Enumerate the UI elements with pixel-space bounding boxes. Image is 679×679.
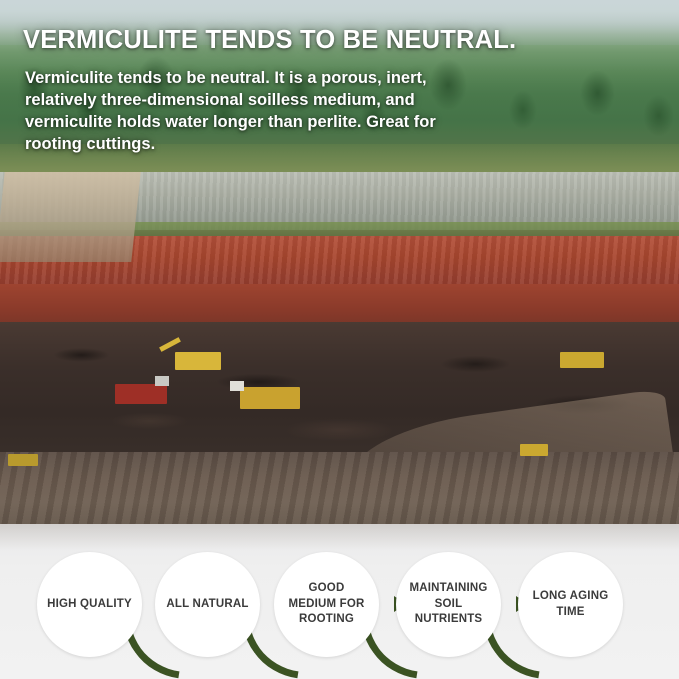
loader-lower-right xyxy=(520,444,548,456)
pit-floor xyxy=(0,452,679,524)
feature-label-2: ALL NATURAL xyxy=(156,597,258,613)
feature-bubbles: HIGH QUALITY ALL NATURAL GOOD MEDIUM FOR… xyxy=(0,524,679,679)
product-infographic: VERMICULITE TENDS TO BE NEUTRAL. Vermicu… xyxy=(0,0,679,679)
feature-bubble-long-aging-time: LONG AGING TIME xyxy=(518,552,623,657)
feature-label-3: GOOD MEDIUM FOR ROOTING xyxy=(274,581,379,628)
haul-truck-yellow-center-cab xyxy=(230,381,244,391)
feature-bubble-good-medium-for-rooting: GOOD MEDIUM FOR ROOTING xyxy=(274,552,379,657)
feature-label-4: MAINTAINING SOIL NUTRIENTS xyxy=(396,581,501,628)
excavator-yellow xyxy=(175,352,221,370)
feature-label-1: HIGH QUALITY xyxy=(37,597,142,613)
feature-bubble-maintaining-soil-nutrients: MAINTAINING SOIL NUTRIENTS xyxy=(396,552,501,657)
dozer-right xyxy=(560,352,604,368)
feature-bubble-all-natural: ALL NATURAL xyxy=(155,552,260,657)
mine-photo-band xyxy=(0,172,679,524)
tan-rock-wedge xyxy=(0,172,141,262)
feature-bubble-high-quality: HIGH QUALITY xyxy=(37,552,142,657)
loader-lower-left xyxy=(8,454,38,466)
body-paragraph: Vermiculite tends to be neutral. It is a… xyxy=(25,68,495,156)
track-marks xyxy=(0,452,679,524)
haul-truck-red-left xyxy=(115,384,167,404)
haul-truck-red-left-cab xyxy=(155,376,169,386)
page-title: VERMICULITE TENDS TO BE NEUTRAL. xyxy=(23,27,663,54)
feature-label-5: LONG AGING TIME xyxy=(518,589,623,620)
haul-truck-yellow-center xyxy=(240,387,300,409)
